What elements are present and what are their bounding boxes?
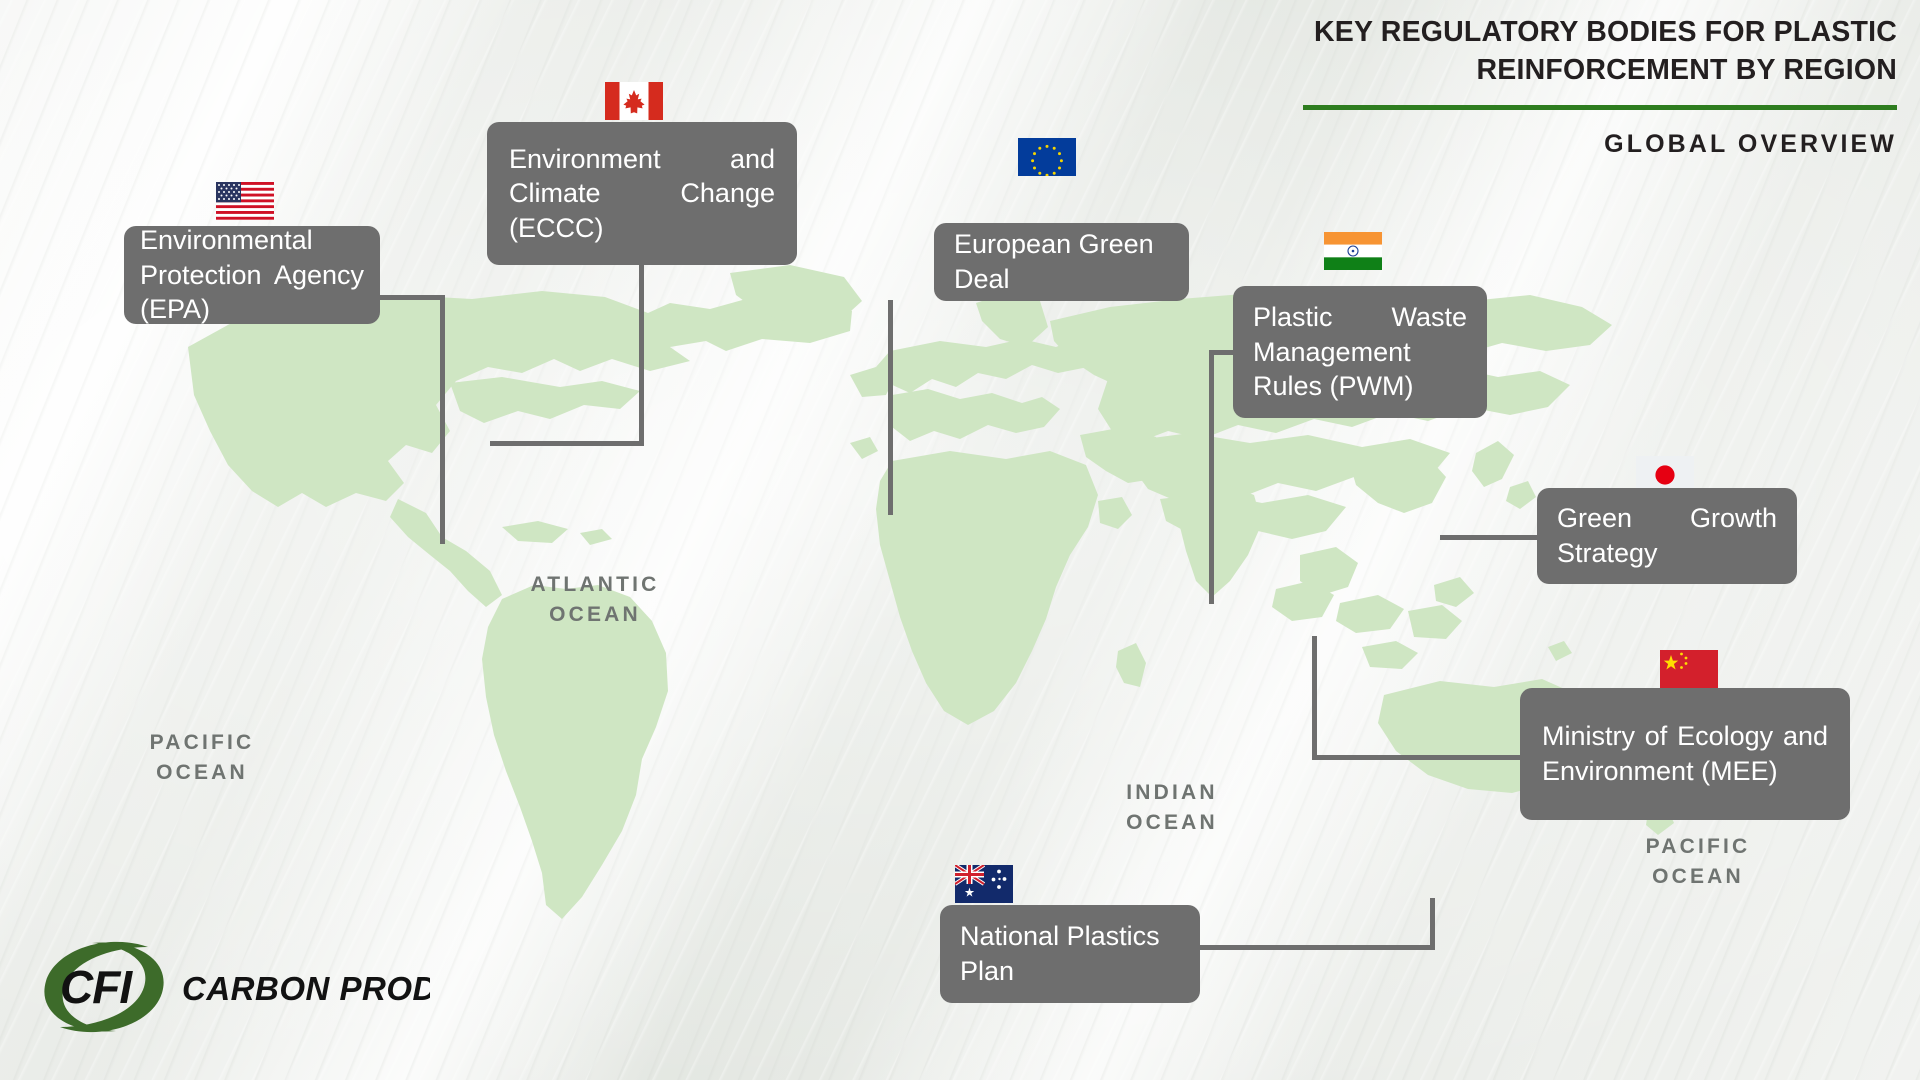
connector-usa-horizontal <box>380 295 445 300</box>
logo-mark: CFI <box>60 961 133 1013</box>
callout-canada-label: Environment and Climate Change (ECCC) <box>509 142 775 246</box>
flag-australia <box>955 865 1013 903</box>
ocean-label-pacific-west: PACIFIC OCEAN <box>122 728 282 789</box>
flag-canada <box>605 82 663 120</box>
ocean-label-indian: INDIAN OCEAN <box>1082 778 1262 839</box>
callout-india[interactable]: Plastic Waste Management Rules (PWM) <box>1233 286 1487 418</box>
svg-text:CFI: CFI <box>60 961 133 1013</box>
flag-china <box>1660 650 1718 688</box>
connector-australia-horizontal <box>1190 945 1435 950</box>
callout-australia[interactable]: National Plastics Plan <box>940 905 1200 1003</box>
callout-usa[interactable]: Environmental Protection Agency (EPA) <box>124 226 380 324</box>
callout-china-label: Ministry of Ecology and Environment (MEE… <box>1542 719 1828 788</box>
svg-text:CARBON PRODUCTS: CARBON PRODUCTS <box>182 970 430 1007</box>
callout-usa-label: Environmental Protection Agency (EPA) <box>140 223 364 327</box>
title-divider <box>1303 105 1897 110</box>
infographic-canvas: PACIFIC OCEAN ATLANTIC OCEAN INDIAN OCEA… <box>0 0 1920 1080</box>
connector-china-horizontal <box>1312 755 1522 760</box>
connector-canada-horizontal <box>490 441 644 446</box>
callout-japan-label: Green Growth Strategy <box>1557 501 1777 570</box>
header: KEY REGULATORY BODIES FOR PLASTIC REINFO… <box>1297 14 1897 159</box>
connector-india-vertical <box>1209 350 1214 604</box>
callout-eu-label: European Green Deal <box>954 227 1169 296</box>
connector-australia-vertical <box>1430 898 1435 950</box>
callout-india-label: Plastic Waste Management Rules (PWM) <box>1253 300 1467 404</box>
page-title: KEY REGULATORY BODIES FOR PLASTIC REINFO… <box>1297 14 1897 89</box>
callout-china[interactable]: Ministry of Ecology and Environment (MEE… <box>1520 688 1850 820</box>
connector-china-vertical <box>1312 636 1317 760</box>
ocean-label-atlantic: ATLANTIC OCEAN <box>495 570 695 631</box>
flag-european-union <box>1018 138 1076 176</box>
connector-eu-vertical <box>888 300 893 515</box>
connector-canada-vertical <box>639 265 644 446</box>
callout-canada[interactable]: Environment and Climate Change (ECCC) <box>487 122 797 265</box>
callout-japan[interactable]: Green Growth Strategy <box>1537 488 1797 584</box>
callout-australia-label: National Plastics Plan <box>960 919 1180 988</box>
callout-eu[interactable]: European Green Deal <box>934 223 1189 301</box>
flag-india <box>1324 232 1382 270</box>
flag-united-states <box>216 182 274 220</box>
logo-wordmark: CARBON PRODUCTS <box>182 970 430 1007</box>
cfi-carbon-products-logo: CFI CARBON PRODUCTS <box>30 935 430 1040</box>
connector-japan-horizontal <box>1440 535 1545 540</box>
connector-usa-vertical <box>440 295 445 544</box>
ocean-label-pacific-east: PACIFIC OCEAN <box>1608 832 1788 893</box>
page-subtitle: GLOBAL OVERVIEW <box>1297 130 1897 159</box>
